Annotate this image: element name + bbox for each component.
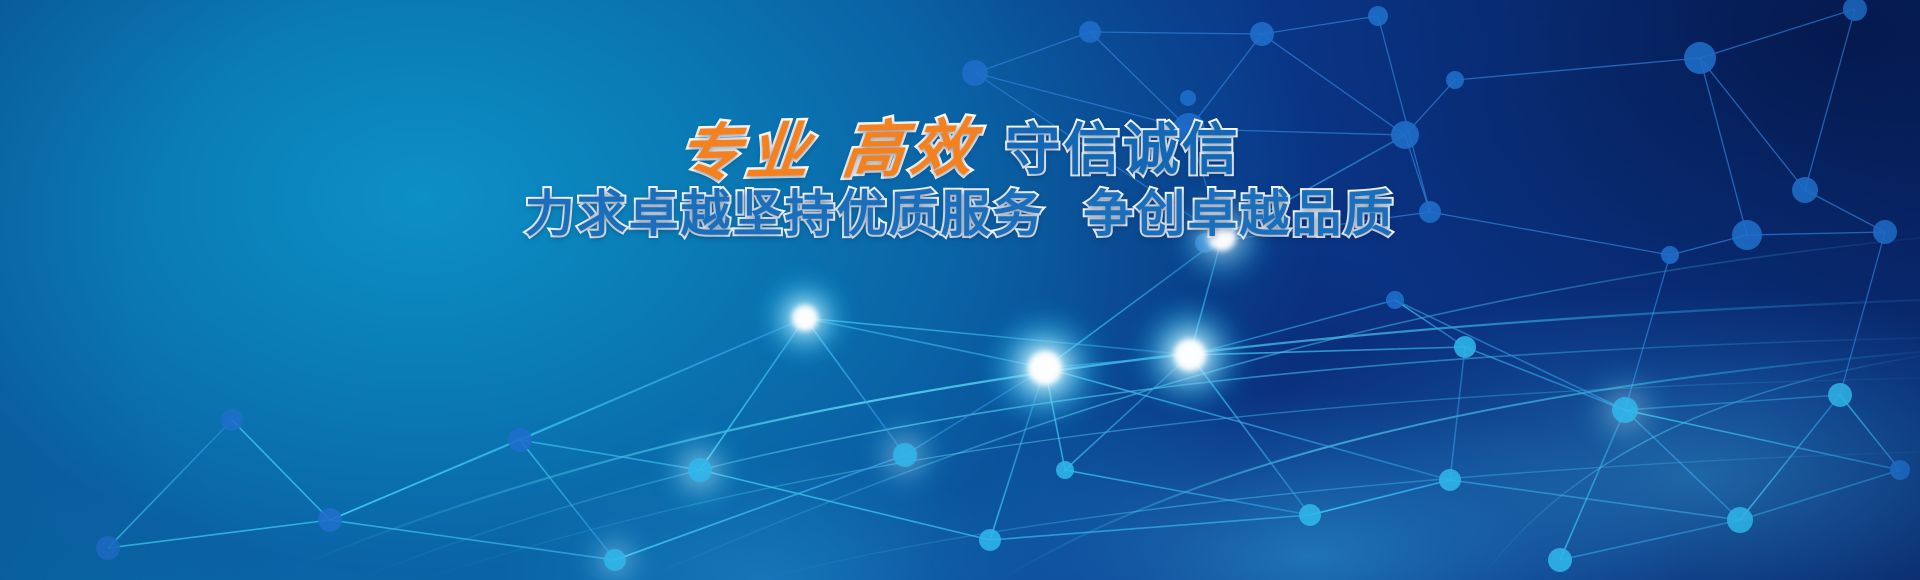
background-vignette [0,0,1920,580]
promo-banner: 专业 高效 守信诚信 力求卓越坚持优质服务 争创卓越品质 [0,0,1920,580]
